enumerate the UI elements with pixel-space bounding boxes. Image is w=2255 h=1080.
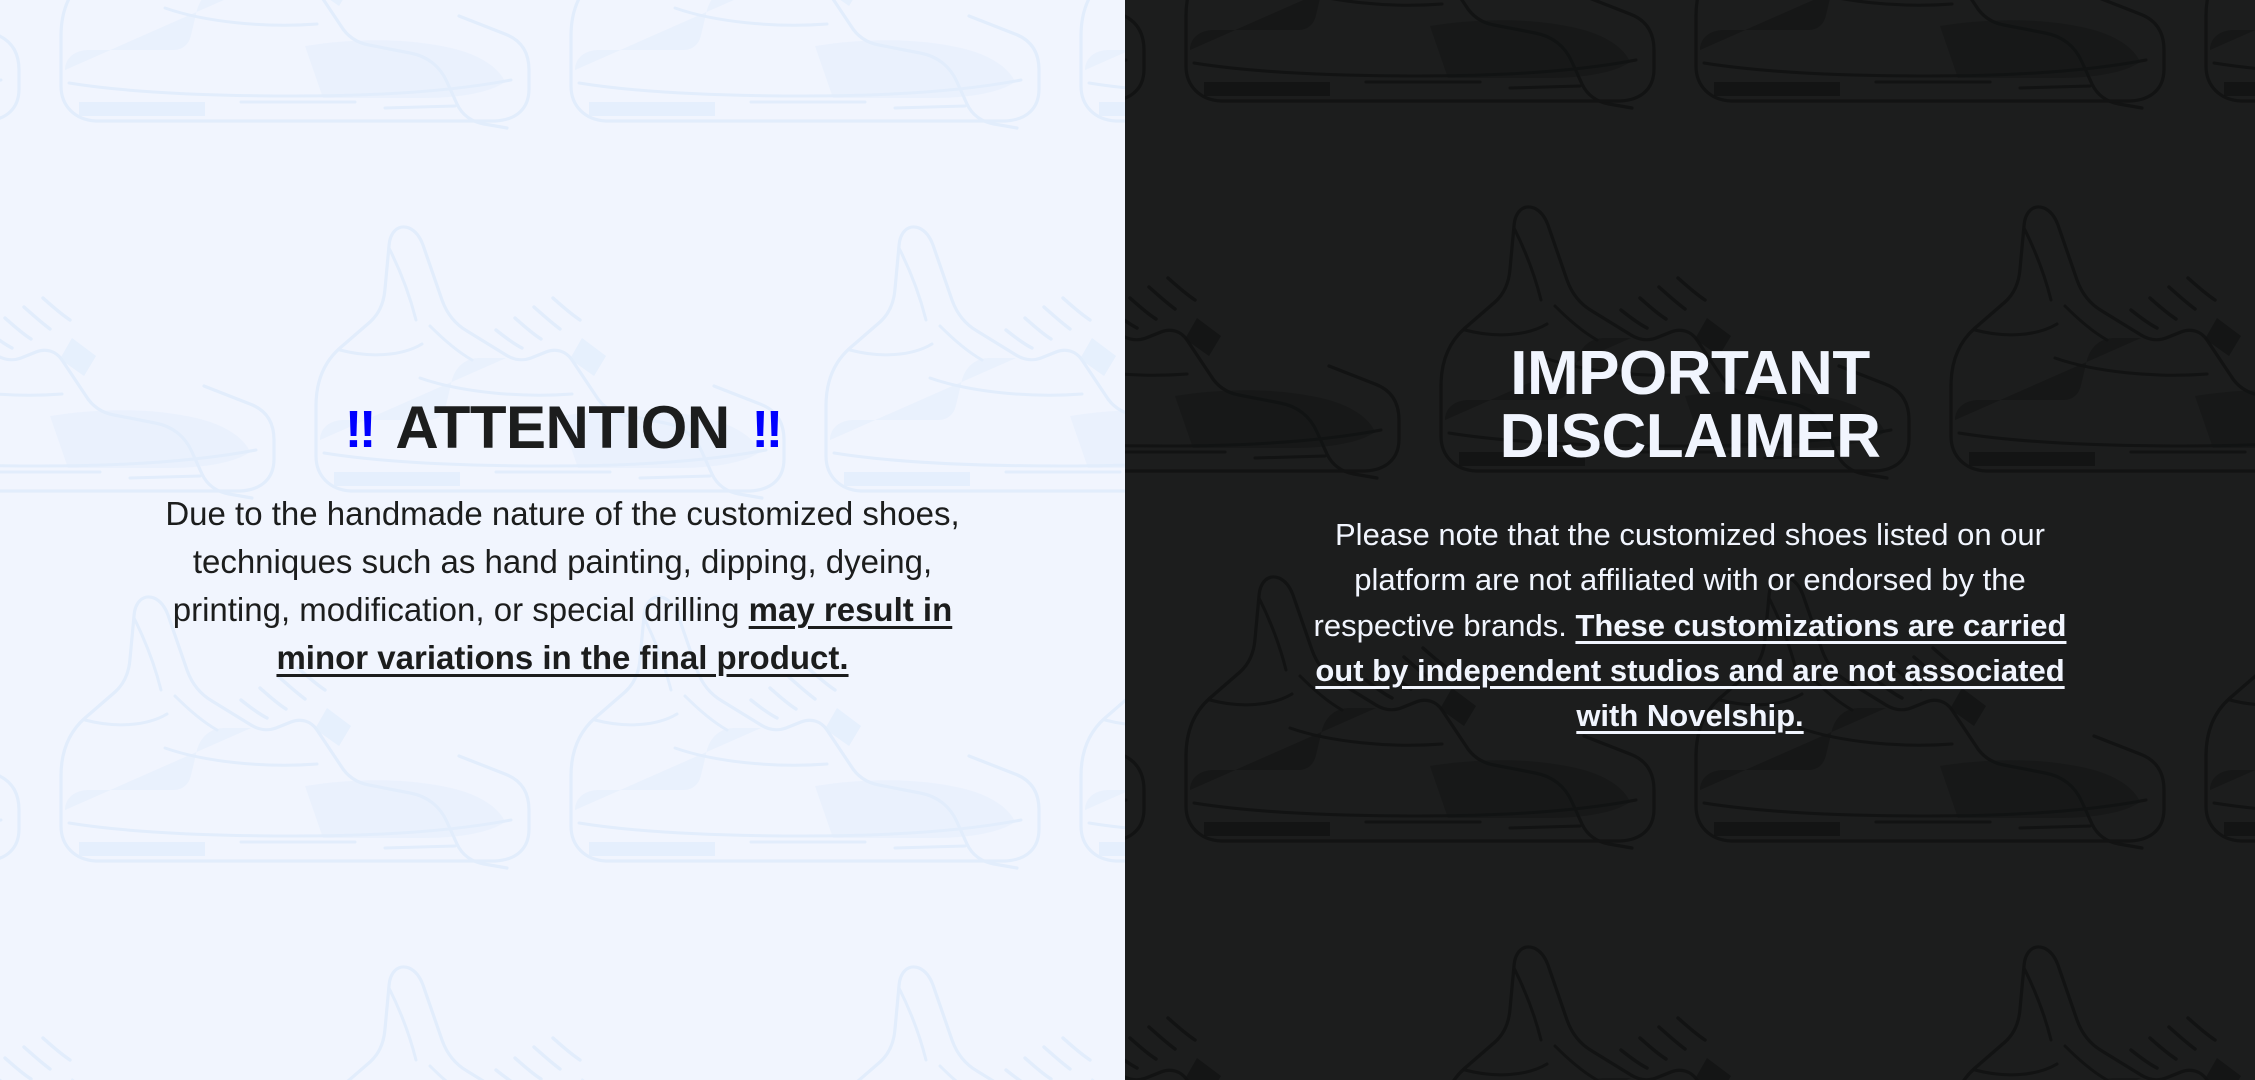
disclaimer-heading-line1: IMPORTANT xyxy=(1510,339,1869,408)
disclaimer-heading: IMPORTANTDISCLAIMER xyxy=(1500,342,1881,468)
attention-disclaimer-banner: ‼ATTENTION‼ Due to the handmade nature o… xyxy=(0,0,2255,1080)
attention-panel: ‼ATTENTION‼ Due to the handmade nature o… xyxy=(0,0,1125,1080)
attention-heading: ‼ATTENTION‼ xyxy=(345,398,780,458)
attention-content: ‼ATTENTION‼ Due to the handmade nature o… xyxy=(0,0,1125,1080)
disclaimer-content: IMPORTANTDISCLAIMER Please note that the… xyxy=(1125,0,2255,1080)
disclaimer-panel: IMPORTANTDISCLAIMER Please note that the… xyxy=(1125,0,2255,1080)
attention-heading-text: ATTENTION xyxy=(395,394,729,461)
disclaimer-heading-line2: DISCLAIMER xyxy=(1500,402,1881,471)
attention-body: Due to the handmade nature of the custom… xyxy=(163,490,963,681)
disclaimer-body: Please note that the customized shoes li… xyxy=(1295,512,2085,738)
double-exclamation-right-icon: ‼ xyxy=(752,404,780,456)
double-exclamation-left-icon: ‼ xyxy=(345,404,373,456)
